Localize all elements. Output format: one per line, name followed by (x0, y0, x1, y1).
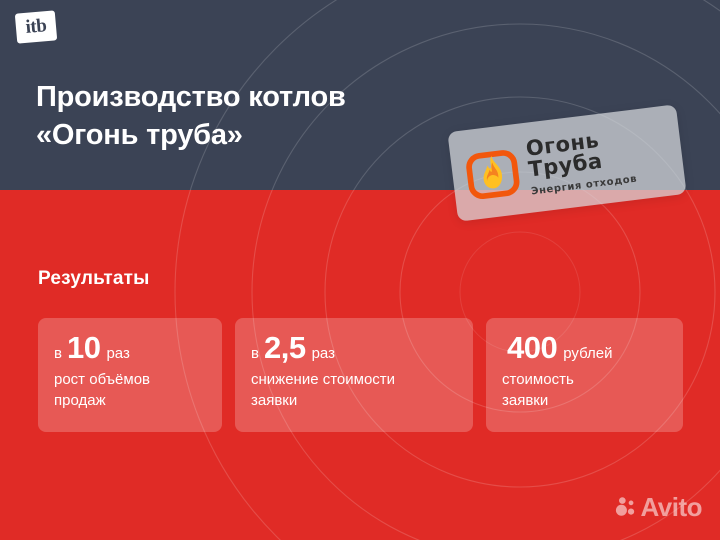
stat-unit: раз (106, 345, 129, 362)
stat-card: в 10 раз рост объёмов продаж (38, 318, 222, 432)
results-heading: Результаты (38, 268, 150, 290)
flame-icon (464, 143, 522, 201)
stat-prefix: в (54, 345, 62, 362)
stat-card: 400 рублей стоимость заявки (486, 318, 683, 432)
stat-unit: раз (312, 345, 335, 362)
stat-number: 2,5 (264, 332, 306, 363)
stat-unit: рублей (563, 345, 612, 362)
itb-logo[interactable]: itb (15, 10, 57, 43)
itb-logo-icon: itb (15, 10, 57, 43)
client-logo-text: Огонь Труба Энергия отходов (525, 121, 673, 197)
page-title-line2: «Огонь труба» (36, 116, 466, 154)
page-title: Производство котлов «Огонь труба» (36, 78, 466, 155)
avito-dots-icon (615, 496, 637, 518)
results-cards: в 10 раз рост объёмов продаж в 2,5 раз с… (38, 318, 684, 432)
stat-description: снижение стоимости заявки (251, 370, 457, 411)
stat-prefix: в (251, 345, 259, 362)
avito-watermark: Avito (615, 494, 702, 520)
stat-description: стоимость заявки (502, 370, 667, 411)
stat-number: 400 (507, 332, 557, 363)
client-name: Огонь Труба (525, 121, 671, 180)
avito-wordmark: Avito (640, 494, 702, 520)
stat-card-headline: в 2,5 раз (251, 332, 457, 363)
stat-number: 10 (67, 332, 100, 363)
stat-card-headline: 400 рублей (502, 332, 667, 363)
itb-logo-label: itb (25, 16, 47, 38)
stat-card-headline: в 10 раз (54, 332, 206, 363)
stat-description: рост объёмов продаж (54, 370, 206, 411)
page-title-line1: Производство котлов (36, 81, 346, 113)
stat-card: в 2,5 раз снижение стоимости заявки (235, 318, 473, 432)
slide-canvas: itb Производство котлов «Огонь труба» Ог… (0, 0, 720, 540)
